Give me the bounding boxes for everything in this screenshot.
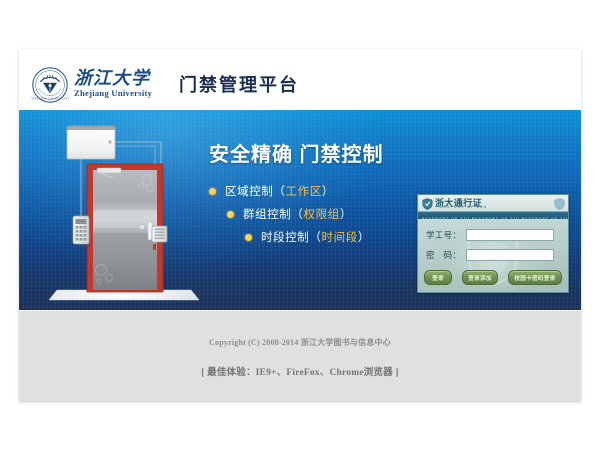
- browser-compatibility-note: [ 最佳体验：IE9+、FireFox、Chrome浏览器 ]: [19, 364, 581, 378]
- logo-zh-text: 浙江大学: [74, 68, 172, 88]
- hero-bullet-2-main: 群组控制（: [243, 206, 304, 222]
- page-root: ZHEJIANG UNIVERSITY 浙江大学 Zhejiang Univer…: [0, 0, 600, 450]
- site-footer: Copyright (C) 2008-2014 浙江大学图书与信息中心 [ 最佳…: [19, 310, 581, 401]
- login-button[interactable]: 登录: [424, 270, 452, 285]
- login-add-button[interactable]: 登录添加: [462, 270, 498, 285]
- copyright-text: Copyright (C) 2008-2014 浙江大学图书与信息中心: [19, 337, 581, 348]
- login-panel-buttons: 登录 登录添加 校园卡密码登录: [424, 270, 562, 285]
- logo-en-text: Zhejiang University: [74, 88, 172, 99]
- bullet-dot-icon: [209, 188, 216, 195]
- zju-seal-icon: ZHEJIANG UNIVERSITY: [31, 66, 69, 104]
- footer-inner: Copyright (C) 2008-2014 浙江大学图书与信息中心 [ 最佳…: [19, 311, 581, 378]
- username-label: 学工号：: [426, 229, 466, 241]
- bullet-dot-icon: [245, 234, 252, 241]
- password-field-row: 密 码：: [426, 248, 560, 262]
- password-input[interactable]: [466, 249, 554, 261]
- hero-bullet-1-tail: ）: [322, 183, 334, 199]
- hero-bullet-1: 区域控制（ 工作区 ）: [209, 183, 424, 199]
- hero-bullet-3-main: 时段控制（: [261, 229, 322, 245]
- login-panel-body: 学工号： 密 码： 登录 登录添加 校园卡密码登录: [418, 219, 568, 291]
- hero-copy: 安全精确 门禁控制 区域控制（ 工作区 ） 群组控制（ 权限组 ） 时段控制（: [209, 138, 424, 252]
- hero-bullet-3-tail: ）: [358, 229, 370, 245]
- shield-icon-secondary: [554, 197, 565, 209]
- app-card: ZHEJIANG UNIVERSITY 浙江大学 Zhejiang Univer…: [19, 49, 581, 401]
- logo-wordmark: 浙江大学 Zhejiang University: [74, 68, 172, 102]
- hero-bullet-2: 群组控制（ 权限组 ）: [209, 206, 424, 222]
- login-panel: 浙大通行证 PASSPORT OF ZJU PASSPORT OF ZJU PA…: [417, 194, 569, 293]
- password-label: 密 码：: [426, 249, 466, 261]
- username-input[interactable]: [466, 229, 554, 241]
- hero-bullet-1-accent: 工作区: [286, 183, 322, 199]
- hero-bullet-3: 时段控制（ 时间段 ）: [209, 229, 424, 245]
- hero-bullet-2-accent: 权限组: [304, 206, 340, 222]
- page-title: 门禁管理平台: [179, 71, 299, 97]
- site-header: ZHEJIANG UNIVERSITY 浙江大学 Zhejiang Univer…: [19, 49, 581, 110]
- bullet-dot-icon: [227, 211, 234, 218]
- hero-bullet-2-tail: ）: [340, 206, 352, 222]
- hero-bullet-1-main: 区域控制（: [225, 183, 286, 199]
- login-panel-title-en: PASSPORT OF ZJU: [436, 205, 487, 209]
- username-field-row: 学工号：: [426, 228, 560, 242]
- svg-text:ZHEJIANG UNIVERSITY: ZHEJIANG UNIVERSITY: [31, 96, 69, 100]
- hero-bullet-3-accent: 时间段: [322, 229, 358, 245]
- login-panel-strip: PASSPORT OF ZJU PASSPORT OF ZJU PASSPORT…: [418, 212, 568, 219]
- login-panel-titlebar: 浙大通行证 PASSPORT OF ZJU: [418, 195, 568, 212]
- campus-card-password-login-button[interactable]: 校园卡密码登录: [508, 270, 562, 285]
- hero-headline: 安全精确 门禁控制: [209, 138, 424, 167]
- hero-banner: 安全精确 门禁控制 区域控制（ 工作区 ） 群组控制（ 权限组 ） 时段控制（: [19, 110, 581, 310]
- door-access-control-illustration: [49, 118, 199, 308]
- shield-icon: [422, 197, 433, 209]
